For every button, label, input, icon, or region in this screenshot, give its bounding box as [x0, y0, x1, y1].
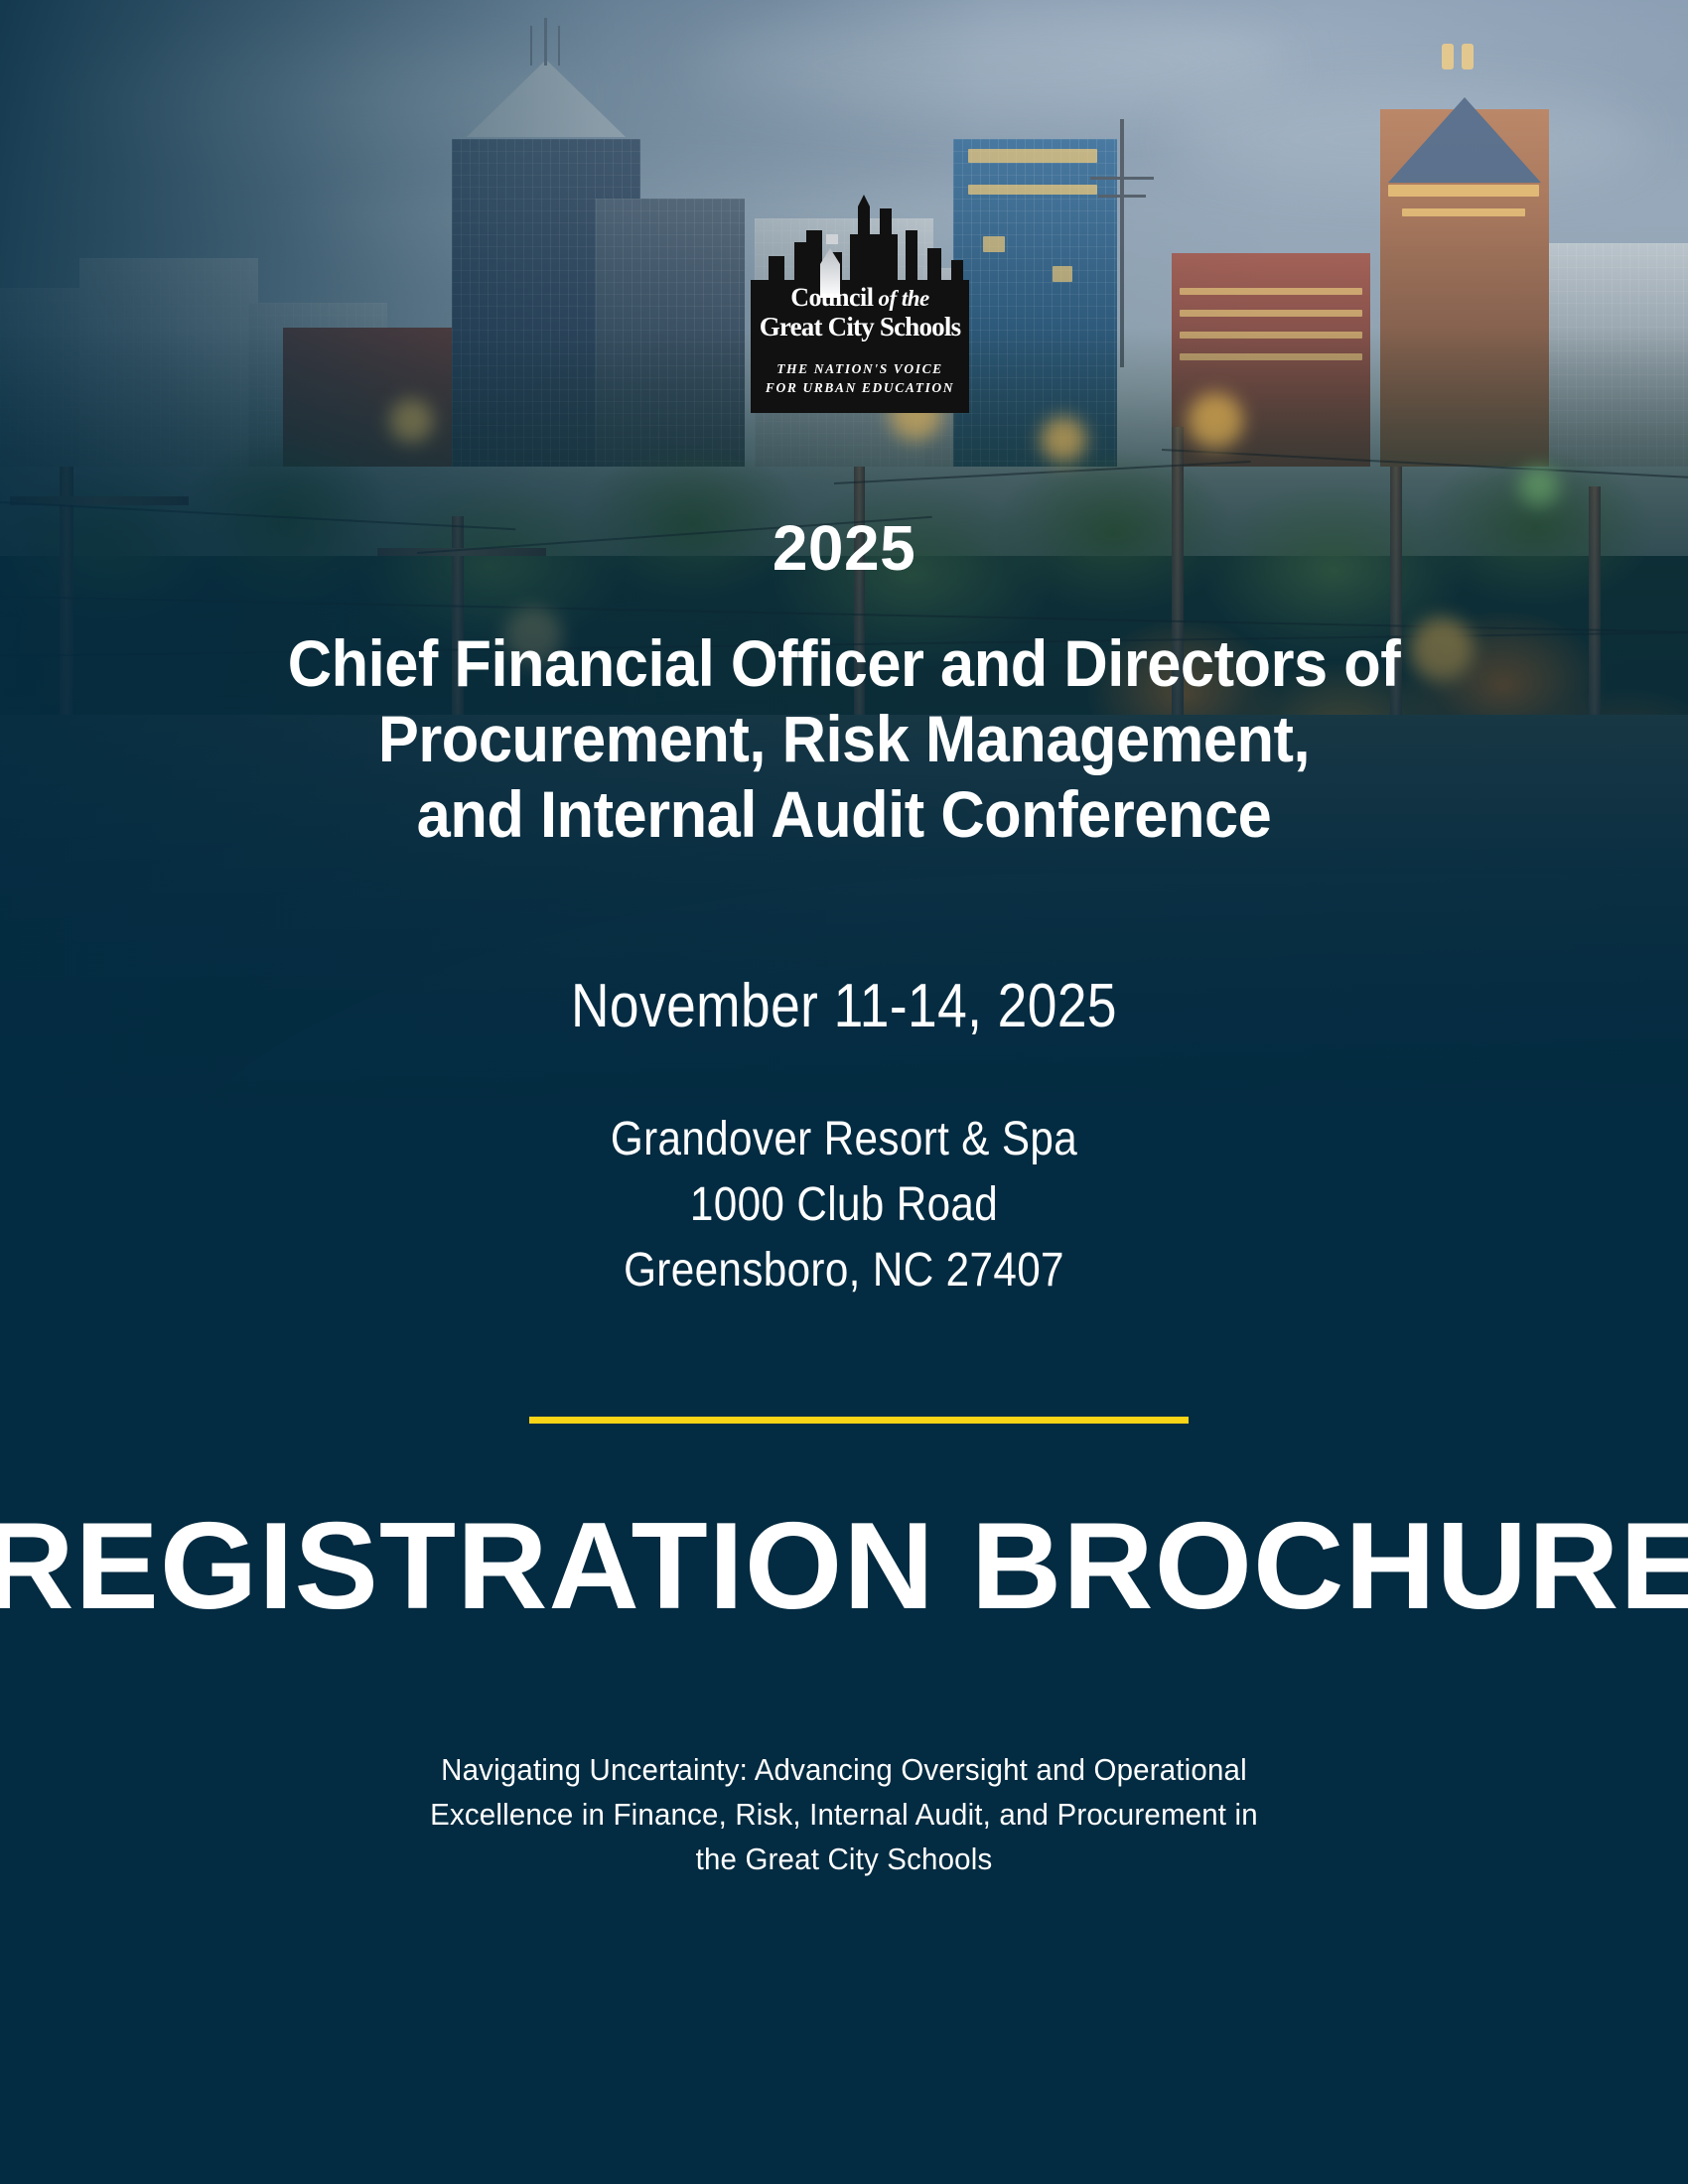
venue-street: 1000 Club Road — [101, 1172, 1587, 1238]
conference-title: Chief Financial Officer and Directors of… — [170, 625, 1518, 852]
conference-dates: November 11-14, 2025 — [118, 973, 1570, 1040]
venue-address: Grandover Resort & Spa 1000 Club Road Gr… — [101, 1107, 1587, 1303]
conference-title-line-3: and Internal Audit Conference — [170, 776, 1518, 852]
conference-year: 2025 — [0, 516, 1688, 580]
svg-text:Councilof the: Councilof the — [790, 283, 929, 312]
conference-theme: Navigating Uncertainty: Advancing Oversi… — [335, 1747, 1353, 1881]
venue-city-state-zip: Greensboro, NC 27407 — [101, 1238, 1587, 1303]
conference-title-line-1: Chief Financial Officer and Directors of — [170, 625, 1518, 701]
svg-text:Great City Schools: Great City Schools — [760, 312, 961, 341]
brochure-cover-page: Councilof the Great City Schools THE NAT… — [0, 0, 1688, 2184]
venue-name: Grandover Resort & Spa — [101, 1107, 1587, 1172]
cover-content: Councilof the Great City Schools THE NAT… — [0, 0, 1688, 2184]
theme-line-3: the Great City Schools — [335, 1837, 1353, 1881]
conference-title-line-2: Procurement, Risk Management, — [170, 701, 1518, 776]
registration-brochure-headline: REGISTRATION BROCHURE — [0, 1505, 1688, 1628]
theme-line-2: Excellence in Finance, Risk, Internal Au… — [335, 1792, 1353, 1837]
theme-line-1: Navigating Uncertainty: Advancing Oversi… — [335, 1747, 1353, 1792]
council-of-the-great-city-schools-logo: Councilof the Great City Schools THE NAT… — [747, 195, 973, 413]
svg-text:THE NATION'S VOICE: THE NATION'S VOICE — [776, 361, 943, 376]
yellow-divider-rule — [529, 1417, 1189, 1424]
svg-text:FOR URBAN EDUCATION: FOR URBAN EDUCATION — [765, 380, 954, 395]
